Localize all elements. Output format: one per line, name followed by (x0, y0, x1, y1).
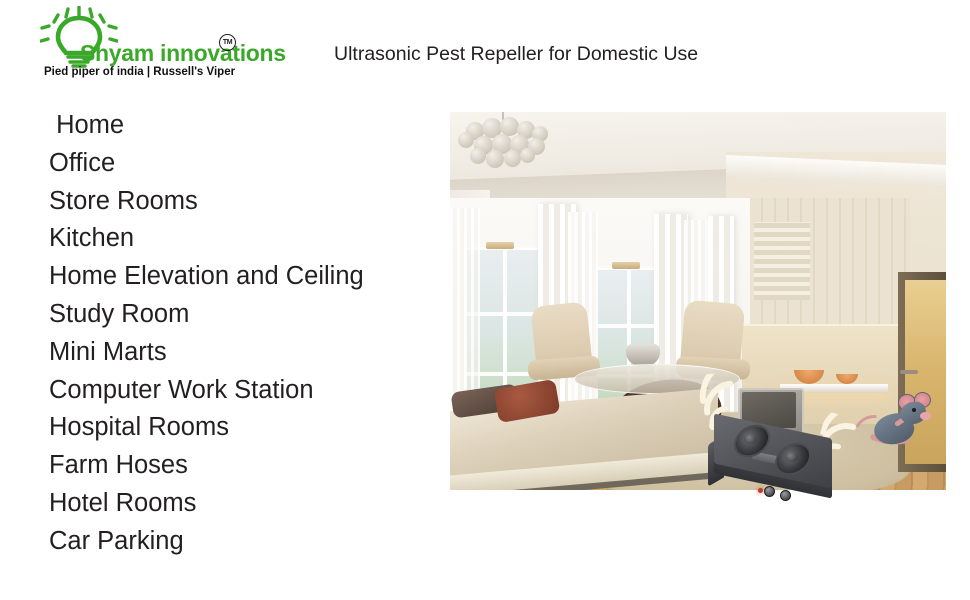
speaker-cone-1-center (744, 434, 757, 444)
list-item: Mini Marts (49, 334, 429, 372)
list-item: Hotel Rooms (49, 485, 429, 523)
list-item: Kitchen (49, 220, 429, 258)
plant-pot (626, 344, 660, 366)
speaker-cone-2-center (785, 452, 798, 462)
brand-wordmark: Shyam innovations (80, 40, 286, 67)
brand-logo: Shyam innovations TM Pied piper of india… (26, 4, 258, 86)
list-item: Car Parking (49, 523, 429, 561)
list-item: Store Rooms (49, 183, 429, 221)
control-knob-1[interactable] (764, 486, 775, 497)
mouse-pest-illustration (856, 392, 934, 454)
door-handle (900, 370, 918, 374)
list-item: Office (49, 145, 429, 183)
list-item: Home Elevation and Ceiling (49, 258, 429, 296)
list-item: Hospital Rooms (49, 409, 429, 447)
window-left-header (486, 242, 514, 249)
list-item: Computer Work Station (49, 372, 429, 410)
control-knob-2[interactable] (780, 490, 791, 501)
trademark-icon: TM (219, 34, 236, 51)
brand-tagline: Pied piper of india | Russell's Viper (44, 66, 235, 78)
ultrasonic-pest-repeller-device (708, 412, 840, 508)
list-item: Study Room (49, 296, 429, 334)
mouse-eye (912, 408, 916, 412)
mouse-snout (920, 412, 931, 420)
power-led-indicator (758, 488, 763, 493)
wall-grille (754, 222, 810, 300)
window-right-header (612, 262, 640, 269)
page-title: Ultrasonic Pest Repeller for Domestic Us… (334, 43, 698, 66)
list-item: Home (49, 107, 429, 145)
usage-location-list: Home Office Store Rooms Kitchen Home Ele… (49, 107, 429, 561)
list-item: Farm Hoses (49, 447, 429, 485)
